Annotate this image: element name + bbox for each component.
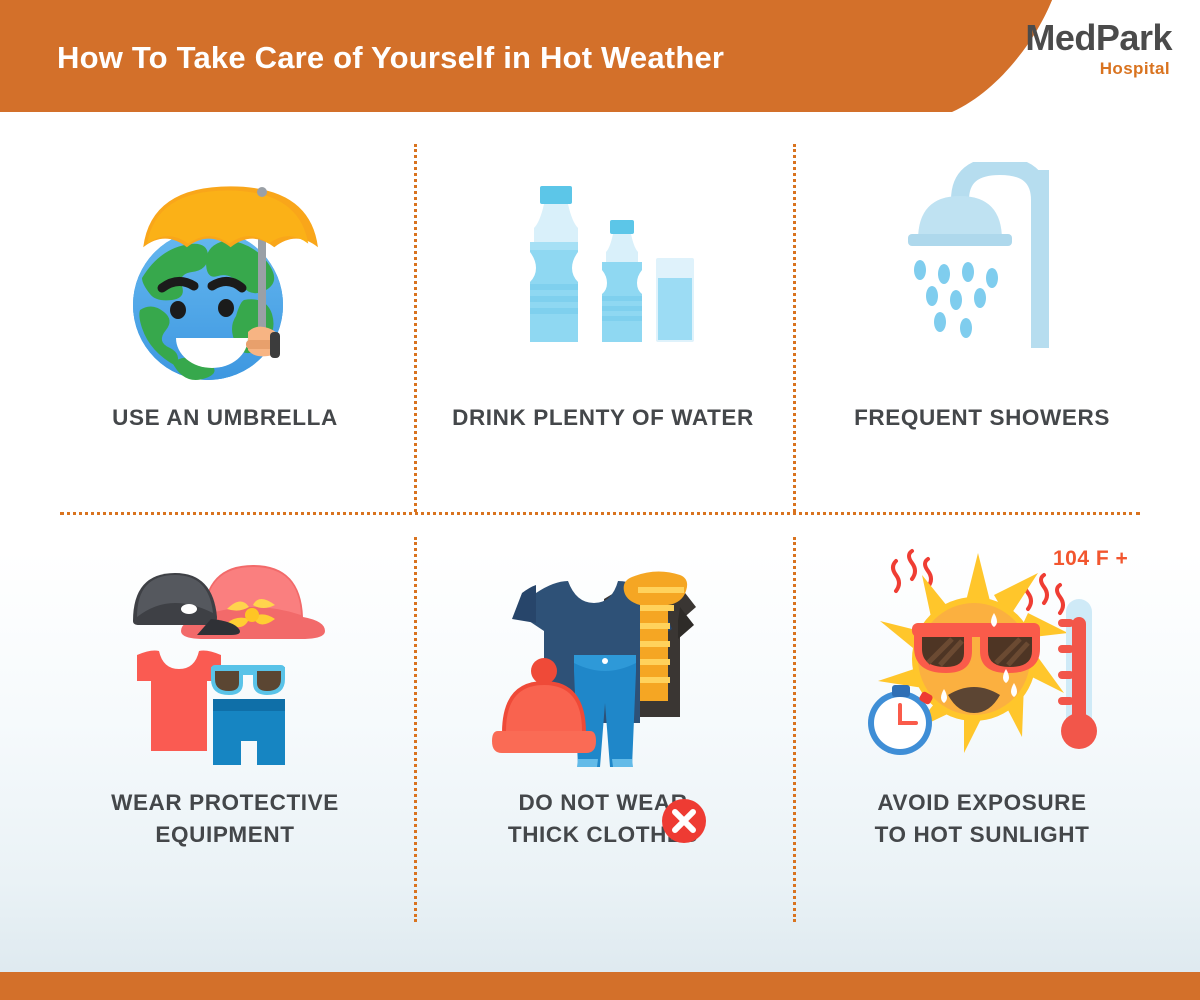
tip-card-drink-plenty-of-water[interactable]: DRINK PLENTY OF WATER [410, 142, 796, 434]
tip-card-do-not-wear-thick-clothes[interactable]: DO NOT WEAR THICK CLOTHES [410, 537, 796, 851]
umbrella-earth-icon [120, 142, 330, 402]
tip-caption-line2: TO HOT SUNLIGHT [875, 819, 1090, 851]
brand-name: MedPark [1025, 20, 1172, 56]
brand-logo: MedPark Hospital [1025, 20, 1172, 77]
tip-caption-line1: AVOID EXPOSURE [877, 787, 1086, 819]
footer-bar [0, 972, 1200, 1000]
tip-card-use-an-umbrella[interactable]: USE AN UMBRELLA [32, 142, 418, 434]
tip-caption: USE AN UMBRELLA [112, 402, 338, 434]
brand-subtitle: Hospital [1025, 60, 1170, 77]
infographic-page: How To Take Care of Yourself in Hot Weat… [0, 0, 1200, 1000]
sun-clothing-icon [115, 537, 335, 787]
water-bottles-icon [498, 142, 708, 402]
tip-caption: DRINK PLENTY OF WATER [452, 402, 754, 434]
thick-clothes-icon [488, 537, 718, 787]
shower-icon [882, 142, 1082, 402]
tip-caption: FREQUENT SHOWERS [854, 402, 1110, 434]
tips-grid: USE AN UMBRELLA [0, 112, 1200, 972]
temperature-label: 104 F + [1053, 547, 1128, 571]
hot-sun-icon [852, 537, 1112, 787]
prohibited-x-icon [660, 797, 708, 845]
tip-card-avoid-exposure-to-hot-sunlight[interactable]: 104 F + AVOID EXPOSURE TO HOT SUNLIGHT [789, 537, 1175, 851]
tip-caption-line2: EQUIPMENT [155, 819, 294, 851]
tip-caption-line1: WEAR PROTECTIVE [111, 787, 339, 819]
divider-horizontal [60, 512, 1140, 515]
page-title: How To Take Care of Yourself in Hot Weat… [57, 40, 724, 76]
header-banner: How To Take Care of Yourself in Hot Weat… [0, 0, 1200, 112]
tip-card-frequent-showers[interactable]: FREQUENT SHOWERS [789, 142, 1175, 434]
tip-card-wear-protective-equipment[interactable]: WEAR PROTECTIVE EQUIPMENT [32, 537, 418, 851]
